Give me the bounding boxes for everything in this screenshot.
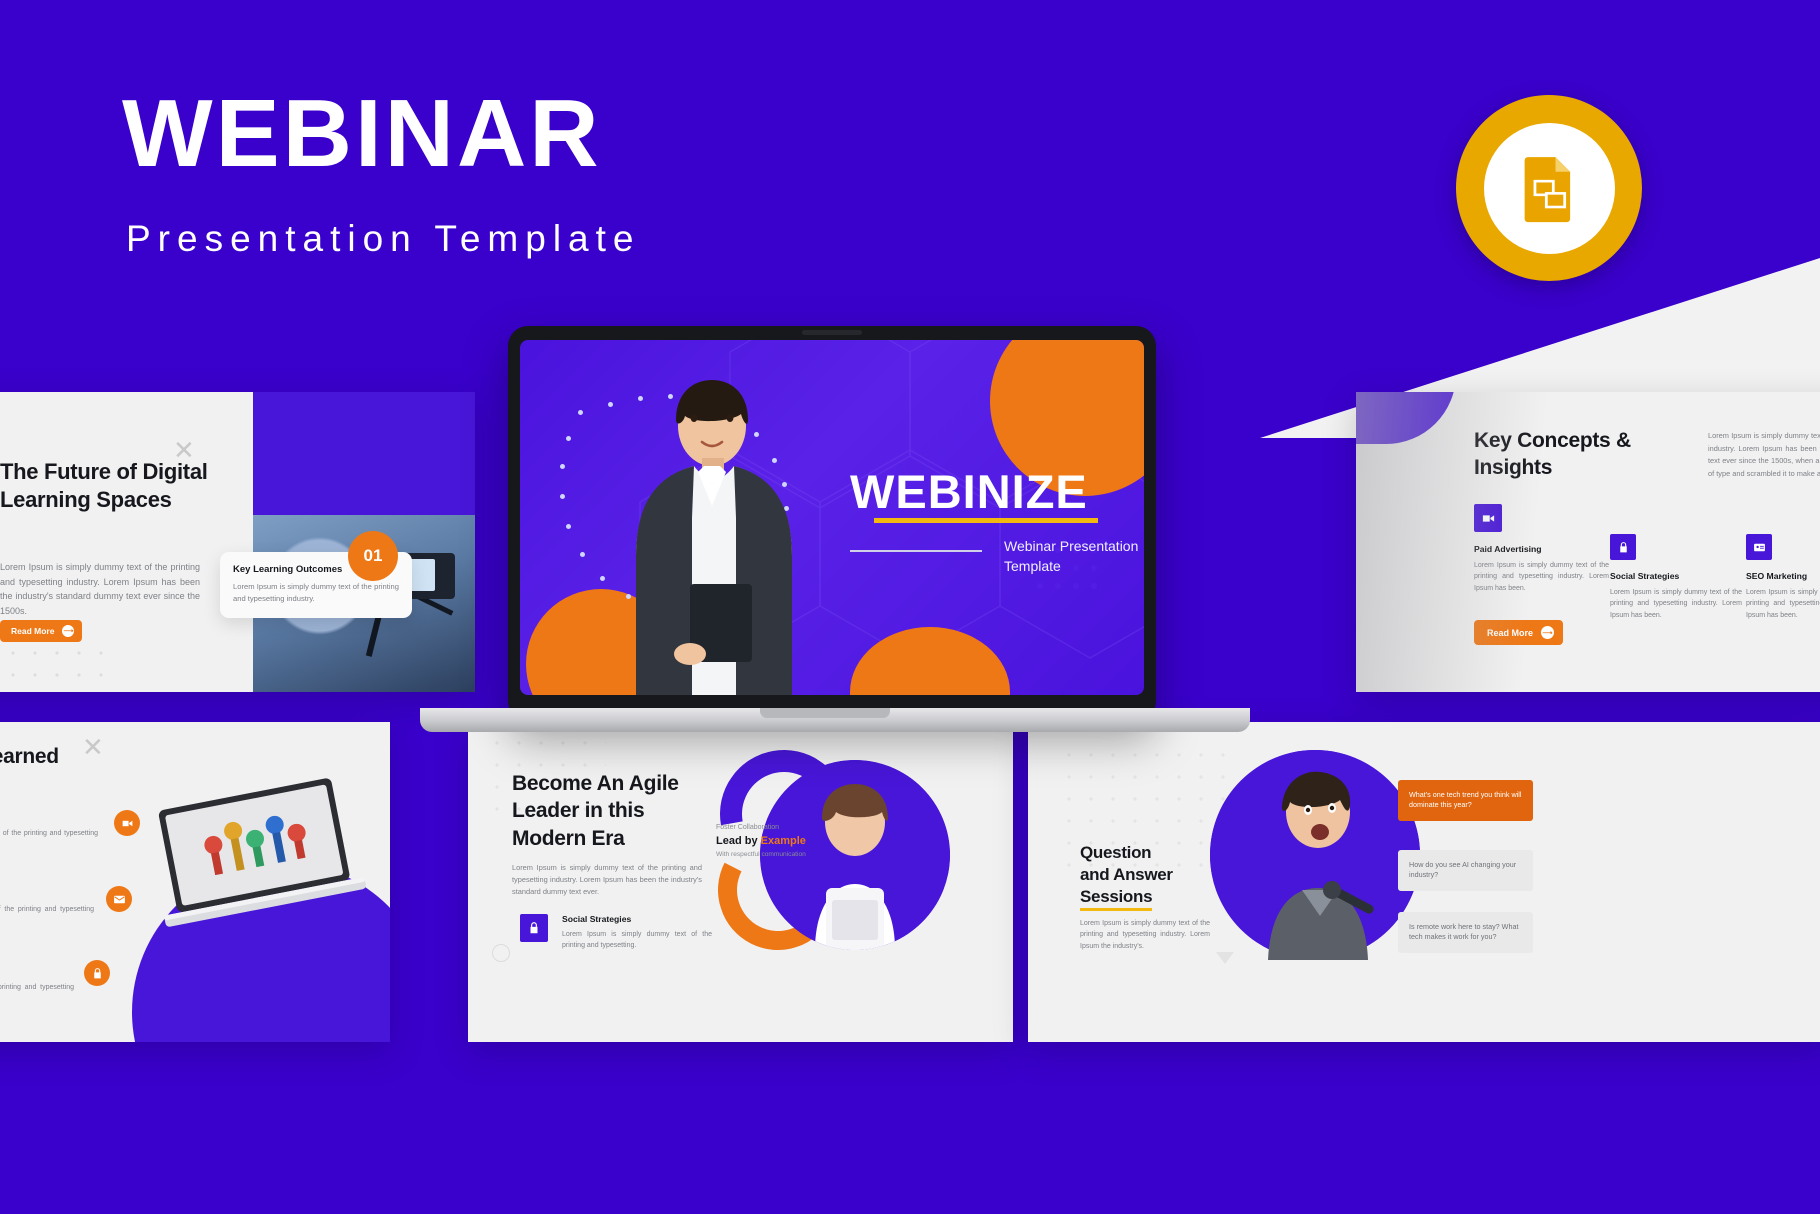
laptop-slide-title: WEBINIZE (850, 468, 1088, 515)
laptop-slide-subtitle: Webinar Presentation Template (1004, 536, 1144, 577)
slide3-item-0-label: Paid Advertising (0, 812, 98, 822)
slide5-triangle-decor (1216, 952, 1234, 964)
slide5-title-line-1: Question (1080, 842, 1230, 864)
slide1-card-body: Lorem Ipsum is simply dummy text of the … (233, 581, 399, 605)
video-camera-icon (114, 810, 140, 836)
slide5-title-line-3: Sessions (1080, 886, 1152, 911)
qa-card-1[interactable]: How do you see AI changing your industry… (1398, 850, 1533, 891)
slide-card-key-concepts[interactable]: Key Concepts & Insights Lorem Ipsum is s… (1356, 392, 1820, 692)
laptop-screen: WEBINIZE Webinar Presentation Template (520, 340, 1144, 695)
slide-card-future-of-digital-learning[interactable]: ✕ The Future of Digital Learning Spaces … (0, 392, 475, 692)
arrow-right-icon: ⟶ (62, 625, 74, 637)
qa-card-0-text: What's one tech trend you think will dom… (1409, 790, 1521, 809)
slide4-callout-headline-accent: Example (761, 835, 806, 847)
slide1-dot-grid (0, 642, 118, 692)
slide2-intro: Lorem Ipsum is simply dummy text of the … (1708, 430, 1820, 480)
slide3-item-0[interactable]: Paid Advertising Lorem Ipsum is simply d… (0, 812, 98, 851)
brand-badge-inner (1484, 123, 1615, 254)
id-card-icon (1746, 534, 1772, 560)
slide3-laptop-svg (146, 774, 376, 939)
slide4-ring-decor (492, 944, 510, 962)
qa-card-0[interactable]: What's one tech trend you think will dom… (1398, 780, 1533, 821)
slide2-item-0-label: Paid Advertising (1474, 544, 1609, 554)
slide4-callout-eyebrow: Foster Collaboration (716, 824, 841, 831)
slide3-item-1-label: E-mail Marketing (0, 888, 94, 898)
slide1-read-more-label: Read More (11, 626, 54, 636)
slide3-item-1[interactable]: E-mail Marketing Lorem Ipsum is simply d… (0, 888, 94, 927)
slide4-callout-headline: Lead by Example (716, 835, 841, 847)
slide2-item-1-label: Social Strategies (1610, 571, 1742, 581)
slide1-step-badge: 01 (348, 531, 398, 581)
slide3-item-0-body: Lorem Ipsum is simply dummy text of the … (0, 828, 98, 851)
slide4-item-body: Lorem Ipsum is simply dummy text of the … (562, 929, 712, 952)
google-slides-icon (1510, 149, 1588, 227)
slide3-item-1-body: Lorem Ipsum is simply dummy text of the … (0, 904, 94, 927)
qa-card-1-text: How do you see AI changing your industry… (1409, 860, 1516, 879)
lock-icon (1610, 534, 1636, 560)
slide2-item-1-body: Lorem Ipsum is simply dummy text of the … (1610, 587, 1742, 621)
slide2-read-more-label: Read More (1487, 628, 1533, 638)
slide4-callout-sub: With respectful communication (716, 851, 841, 858)
slide2-read-more-button[interactable]: Read More ⟶ (1474, 620, 1563, 645)
video-camera-icon (1474, 504, 1502, 532)
slide-card-what-weve-learned[interactable]: ✕ What We've Learned Today Paid Advertis… (0, 722, 390, 1042)
slide4-item-label: Social Strategies (562, 914, 712, 924)
qa-card-2[interactable]: Is remote work here to stay? What tech m… (1398, 912, 1533, 953)
slide1-read-more-button[interactable]: Read More ⟶ (0, 620, 82, 642)
lock-icon (84, 960, 110, 986)
slide1-title: The Future of Digital Learning Spaces (0, 458, 210, 514)
arrow-right-icon: ⟶ (1541, 626, 1554, 639)
slide5-title-line-2: and Answer (1080, 864, 1230, 886)
laptop-notch (802, 330, 862, 335)
laptop-bezel: WEBINIZE Webinar Presentation Template (508, 326, 1156, 721)
slide5-person-photo (1210, 750, 1420, 960)
slide2-item-2-label: SEO Marketing (1746, 571, 1820, 581)
page-subtitle: Presentation Template (126, 218, 641, 260)
slide-card-question-and-answer[interactable]: Question and Answer Sessions Lorem Ipsum… (1028, 722, 1820, 1042)
laptop-mockup: WEBINIZE Webinar Presentation Template (508, 326, 1156, 721)
laptop-slide-title-underline (874, 518, 1098, 523)
slide2-item-0[interactable]: Paid Advertising Lorem Ipsum is simply d… (1474, 504, 1609, 594)
presentation-preview-stage: WEBINAR Presentation Template ✕ The F (0, 0, 1820, 1214)
slide4-title: Become An Agile Leader in this Modern Er… (512, 770, 702, 852)
slide5-body: Lorem Ipsum is simply dummy text of the … (1080, 918, 1210, 952)
brand-badge (1456, 95, 1642, 281)
slide4-body: Lorem Ipsum is simply dummy text of the … (512, 862, 702, 898)
slide-card-agile-leader[interactable]: Become An Agile Leader in this Modern Er… (468, 722, 1013, 1042)
slide4-callout-headline-plain: Lead by (716, 835, 758, 847)
slide3-item-2[interactable]: Social Strategies Lorem Ipsum is simply … (0, 966, 74, 1005)
slide1-body: Lorem Ipsum is simply dummy text of the … (0, 560, 200, 618)
slide3-item-2-body: Lorem Ipsum is simply dummy text of the … (0, 982, 74, 1005)
slide2-title: Key Concepts & Insights (1474, 428, 1674, 482)
slide3-title: What We've Learned Today (0, 744, 90, 798)
qa-card-2-text: Is remote work here to stay? What tech m… (1409, 922, 1518, 941)
mail-icon (106, 886, 132, 912)
slide3-item-2-label: Social Strategies (0, 966, 74, 976)
slide2-item-1[interactable]: Social Strategies Lorem Ipsum is simply … (1610, 534, 1742, 621)
slide2-item-2-body: Lorem Ipsum is simply dummy text of the … (1746, 587, 1820, 621)
page-title: WEBINAR (122, 86, 602, 182)
slide2-item-0-body: Lorem Ipsum is simply dummy text of the … (1474, 560, 1609, 594)
laptop-person-photo (590, 368, 840, 695)
slide5-title: Question and Answer Sessions (1080, 842, 1230, 911)
slide2-item-2[interactable]: SEO Marketing Lorem Ipsum is simply dumm… (1746, 534, 1820, 621)
lock-icon (520, 914, 548, 942)
slide2-purple-corner (1356, 392, 1456, 444)
slide4-callout: Foster Collaboration Lead by Example Wit… (716, 824, 841, 858)
laptop-slide-divider (850, 550, 982, 552)
slide5-person-svg (1210, 750, 1420, 960)
laptop-base-notch (760, 708, 890, 718)
slide3-laptop-image (146, 774, 376, 939)
slide4-item[interactable]: Social Strategies Lorem Ipsum is simply … (562, 914, 712, 952)
